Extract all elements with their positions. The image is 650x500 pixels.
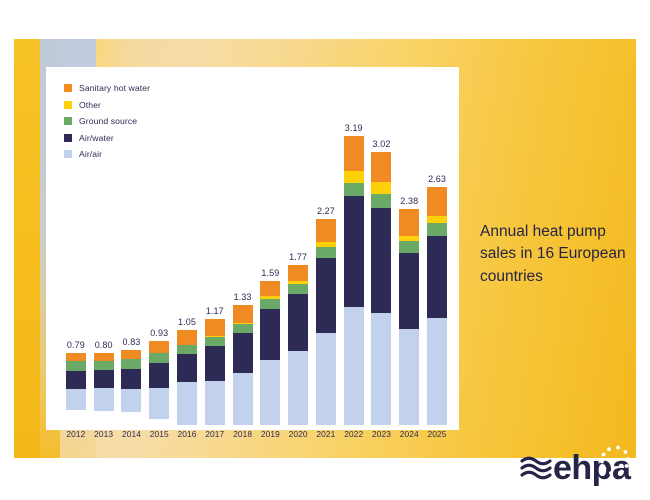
- bar-segment[interactable]: [66, 371, 86, 389]
- x-axis-tick-label: 2012: [62, 426, 90, 439]
- bar-segment[interactable]: [149, 353, 169, 362]
- bar-segment[interactable]: [399, 241, 419, 253]
- bar-segment[interactable]: [177, 345, 197, 354]
- bar-column[interactable]: 0.79: [62, 85, 90, 425]
- bar-column[interactable]: 3.02: [368, 85, 396, 425]
- bar-segment[interactable]: [149, 363, 169, 388]
- x-axis-tick-label: 2025: [423, 426, 451, 439]
- bar-segment[interactable]: [371, 208, 391, 313]
- bar-column[interactable]: 2.38: [395, 85, 423, 425]
- bar-segment[interactable]: [344, 136, 364, 170]
- bar-segment[interactable]: [344, 171, 364, 184]
- x-axis-labels: 2012201320142015201620172018201920202021…: [62, 426, 451, 439]
- bar-segment[interactable]: [260, 360, 280, 425]
- bar-segment[interactable]: [427, 236, 447, 318]
- bar-column[interactable]: 2.63: [423, 85, 451, 425]
- bar-segment[interactable]: [316, 258, 336, 332]
- bar-segment[interactable]: [427, 318, 447, 425]
- bar-segment[interactable]: [316, 333, 336, 425]
- bar-value-label: 2.63: [428, 174, 446, 184]
- bar-value-label: 3.02: [373, 139, 391, 149]
- x-axis-tick-label: 2013: [90, 426, 118, 439]
- bar-stack: [233, 305, 253, 425]
- x-axis-tick-label: 2014: [118, 426, 146, 439]
- bar-segment[interactable]: [288, 265, 308, 281]
- bar-segment[interactable]: [66, 353, 86, 361]
- bar-segment[interactable]: [94, 388, 114, 410]
- bar-column[interactable]: 1.59: [256, 85, 284, 425]
- bar-segment[interactable]: [316, 247, 336, 259]
- bar-stack: [288, 265, 308, 425]
- chart-panel: Sanitary hot waterOtherGround sourceAir/…: [46, 67, 459, 430]
- bar-segment[interactable]: [121, 369, 141, 389]
- bar-column[interactable]: 1.05: [173, 85, 201, 425]
- bar-segment[interactable]: [260, 309, 280, 360]
- bar-value-label: 0.80: [95, 340, 113, 350]
- bar-segment[interactable]: [399, 253, 419, 329]
- bar-segment[interactable]: [177, 382, 197, 425]
- bar-value-label: 1.77: [289, 252, 307, 262]
- bar-value-label: 2.38: [400, 196, 418, 206]
- bar-segment[interactable]: [205, 319, 225, 336]
- bar-stack: [371, 152, 391, 425]
- bar-segment[interactable]: [288, 294, 308, 351]
- bar-segment[interactable]: [288, 284, 308, 294]
- bar-segment[interactable]: [177, 330, 197, 345]
- bar-segment[interactable]: [94, 361, 114, 370]
- bar-value-label: 0.79: [67, 340, 85, 350]
- bar-segment[interactable]: [233, 324, 253, 333]
- slide-canvas: Sanitary hot waterOtherGround sourceAir/…: [14, 39, 636, 458]
- x-axis-tick-label: 2016: [173, 426, 201, 439]
- bar-segment[interactable]: [399, 329, 419, 425]
- bar-segment[interactable]: [371, 313, 391, 425]
- bar-stack: [316, 219, 336, 425]
- bar-segment[interactable]: [371, 152, 391, 183]
- bar-stack: [149, 341, 169, 425]
- bar-segment[interactable]: [427, 216, 447, 223]
- bar-segment[interactable]: [177, 354, 197, 382]
- bar-stack: [66, 353, 86, 425]
- bar-column[interactable]: 3.19: [340, 85, 368, 425]
- chart-plot-area: 0.790.800.830.931.051.171.331.591.772.27…: [62, 85, 451, 430]
- bar-column[interactable]: 2.27: [312, 85, 340, 425]
- wave-icon: [522, 458, 550, 478]
- x-axis-tick-label: 2021: [312, 426, 340, 439]
- ehpa-wordmark: ehpa: [553, 449, 632, 487]
- bar-segment[interactable]: [344, 307, 364, 425]
- bar-stack: [94, 353, 114, 425]
- bar-segment[interactable]: [94, 370, 114, 388]
- bar-column[interactable]: 1.77: [284, 85, 312, 425]
- bar-segment[interactable]: [205, 337, 225, 346]
- x-axis-tick-label: 2020: [284, 426, 312, 439]
- bar-segment[interactable]: [427, 223, 447, 236]
- bar-segment[interactable]: [344, 196, 364, 307]
- bar-segment[interactable]: [66, 361, 86, 370]
- bar-column[interactable]: 0.80: [90, 85, 118, 425]
- bar-segment[interactable]: [316, 219, 336, 242]
- bar-value-label: 1.33: [234, 292, 252, 302]
- x-axis-tick-label: 2019: [256, 426, 284, 439]
- bar-segment[interactable]: [427, 187, 447, 216]
- bar-stack: [427, 187, 447, 425]
- bar-value-label: 0.83: [122, 337, 140, 347]
- x-axis-tick-label: 2024: [395, 426, 423, 439]
- bar-segment[interactable]: [371, 182, 391, 194]
- bar-segment[interactable]: [288, 351, 308, 425]
- bar-segment[interactable]: [205, 346, 225, 380]
- bar-value-label: 0.93: [150, 328, 168, 338]
- bar-value-label: 1.59: [261, 268, 279, 278]
- bar-segment[interactable]: [260, 299, 280, 309]
- bar-stack: [205, 319, 225, 425]
- bar-segment[interactable]: [121, 359, 141, 369]
- bar-stack: [399, 209, 419, 425]
- bar-segment[interactable]: [233, 305, 253, 323]
- bar-column[interactable]: 0.83: [118, 85, 146, 425]
- bar-segment[interactable]: [205, 381, 225, 425]
- bar-stack: [344, 136, 364, 425]
- bar-group: 0.790.800.830.931.051.171.331.591.772.27…: [62, 85, 451, 425]
- bar-segment[interactable]: [66, 389, 86, 410]
- bar-segment[interactable]: [260, 281, 280, 296]
- bar-segment[interactable]: [94, 353, 114, 361]
- bar-stack: [260, 281, 280, 425]
- ehpa-logo: ehpa: [520, 441, 632, 487]
- bar-value-label: 3.19: [345, 123, 363, 133]
- bar-column[interactable]: 1.17: [201, 85, 229, 425]
- bar-segment[interactable]: [121, 350, 141, 359]
- bar-value-label: 1.05: [178, 317, 196, 327]
- bar-segment[interactable]: [149, 388, 169, 419]
- x-axis-tick-label: 2017: [201, 426, 229, 439]
- x-axis-tick-label: 2022: [340, 426, 368, 439]
- bar-segment[interactable]: [399, 209, 419, 235]
- x-axis-tick-label: 2018: [229, 426, 257, 439]
- x-axis-tick-label: 2023: [368, 426, 396, 439]
- page-title: Annual heat pump sales in 16 European co…: [480, 221, 630, 288]
- bar-column[interactable]: 0.93: [145, 85, 173, 425]
- bar-segment[interactable]: [121, 389, 141, 412]
- bar-value-label: 1.17: [206, 306, 224, 316]
- x-axis-tick-label: 2015: [145, 426, 173, 439]
- bar-segment[interactable]: [233, 333, 253, 374]
- bar-segment[interactable]: [344, 183, 364, 196]
- bar-stack: [121, 350, 141, 425]
- bar-segment[interactable]: [371, 194, 391, 208]
- bar-stack: [177, 330, 197, 425]
- bar-segment[interactable]: [233, 373, 253, 425]
- bar-value-label: 2.27: [317, 206, 335, 216]
- bar-segment[interactable]: [149, 341, 169, 354]
- bar-column[interactable]: 1.33: [229, 85, 257, 425]
